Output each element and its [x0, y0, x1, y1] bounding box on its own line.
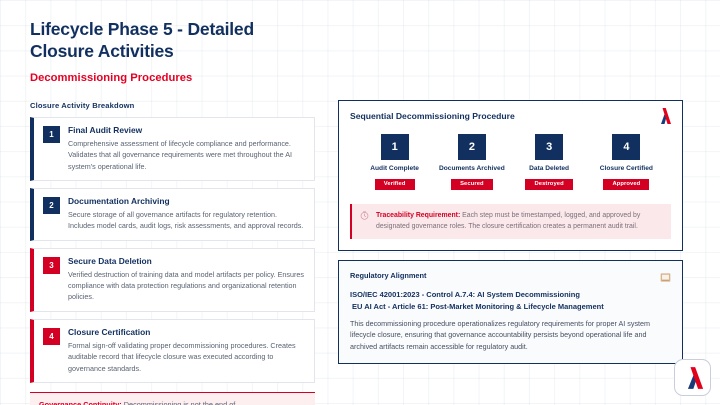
step-label: Data Deleted [529, 165, 569, 174]
activity-number-badge: 2 [43, 197, 60, 214]
traceability-requirement-callout: Traceability Requirement: Each step must… [350, 204, 671, 239]
corner-brand-logo [674, 359, 711, 396]
activity-number-badge: 4 [43, 328, 60, 345]
activity-description: Comprehensive assessment of lifecycle co… [68, 138, 305, 172]
step-label: Closure Certified [600, 165, 653, 174]
procedure-step-closure-certified[interactable]: 4 Closure Certified Approved [588, 134, 665, 190]
step-number-box: 4 [612, 134, 640, 160]
activity-number-badge: 3 [43, 257, 60, 274]
procedure-step-data-deleted[interactable]: 3 Data Deleted Destroyed [511, 134, 588, 190]
procedure-panel-title: Sequential Decommissioning Procedure [350, 111, 671, 121]
continuity-lead: Governance Continuity: [39, 400, 122, 405]
left-content-column: Lifecycle Phase 5 - Detailed Closure Act… [30, 18, 315, 405]
step-label: Documents Archived [439, 165, 505, 174]
page-subtitle: Decommissioning Procedures [30, 72, 315, 84]
step-label: Audit Complete [370, 165, 419, 174]
activity-card-final-audit-review[interactable]: 1 Final Audit Review Comprehensive asses… [30, 117, 315, 181]
traceability-lead: Traceability Requirement: [376, 212, 460, 219]
activity-title: Closure Certification [68, 327, 305, 337]
right-content-column: Sequential Decommissioning Procedure 1 A… [338, 100, 683, 364]
section-label-closure-activity-breakdown: Closure Activity Breakdown [30, 101, 315, 110]
activity-card-closure-certification[interactable]: 4 Closure Certification Formal sign-off … [30, 319, 315, 383]
continuity-text: Decommissioning is not the end of [122, 400, 236, 405]
step-status-badge: Verified [375, 179, 415, 190]
document-icon [660, 272, 671, 283]
activity-title: Documentation Archiving [68, 196, 305, 206]
activity-title: Final Audit Review [68, 125, 305, 135]
panel-regulatory-alignment: Regulatory Alignment ISO/IEC 42001:2023 … [338, 260, 683, 364]
regulatory-reference-eu-ai-act: EU AI Act - Article 61: Post-Market Moni… [350, 301, 671, 313]
activity-body: Final Audit Review Comprehensive assessm… [68, 125, 305, 172]
governance-continuity-callout: Governance Continuity: Decommissioning i… [30, 392, 315, 405]
panel-sequential-decommissioning-procedure: Sequential Decommissioning Procedure 1 A… [338, 100, 683, 251]
activity-body: Closure Certification Formal sign-off va… [68, 327, 305, 374]
step-number-box: 1 [381, 134, 409, 160]
activity-body: Secure Data Deletion Verified destructio… [68, 256, 305, 303]
regulatory-panel-title: Regulatory Alignment [350, 271, 671, 280]
activity-description: Formal sign-off validating proper decomm… [68, 340, 305, 374]
activity-body: Documentation Archiving Secure storage o… [68, 196, 305, 232]
traceability-text: Traceability Requirement: Each step must… [376, 210, 663, 232]
clock-icon [360, 211, 369, 220]
regulatory-description: This decommissioning procedure operation… [350, 318, 671, 353]
regulatory-reference-iso: ISO/IEC 42001:2023 - Control A.7.4: AI S… [350, 289, 671, 301]
activity-number-badge: 1 [43, 126, 60, 143]
step-status-badge: Approved [603, 179, 649, 190]
step-status-badge: Destroyed [525, 179, 572, 190]
procedure-step-documents-archived[interactable]: 2 Documents Archived Secured [433, 134, 510, 190]
activity-title: Secure Data Deletion [68, 256, 305, 266]
activity-card-documentation-archiving[interactable]: 2 Documentation Archiving Secure storage… [30, 188, 315, 241]
step-number-box: 2 [458, 134, 486, 160]
step-number-box: 3 [535, 134, 563, 160]
step-status-badge: Secured [451, 179, 493, 190]
activity-description: Verified destruction of training data an… [68, 269, 305, 303]
lambda-logo-icon [681, 365, 705, 391]
procedure-step-audit-complete[interactable]: 1 Audit Complete Verified [356, 134, 433, 190]
activity-description: Secure storage of all governance artifac… [68, 209, 305, 232]
lambda-logo-icon [656, 107, 672, 125]
activity-card-secure-data-deletion[interactable]: 3 Secure Data Deletion Verified destruct… [30, 248, 315, 312]
slide-canvas: Lifecycle Phase 5 - Detailed Closure Act… [0, 0, 720, 405]
procedure-steps-row: 1 Audit Complete Verified 2 Documents Ar… [350, 134, 671, 190]
page-title: Lifecycle Phase 5 - Detailed Closure Act… [30, 18, 315, 63]
